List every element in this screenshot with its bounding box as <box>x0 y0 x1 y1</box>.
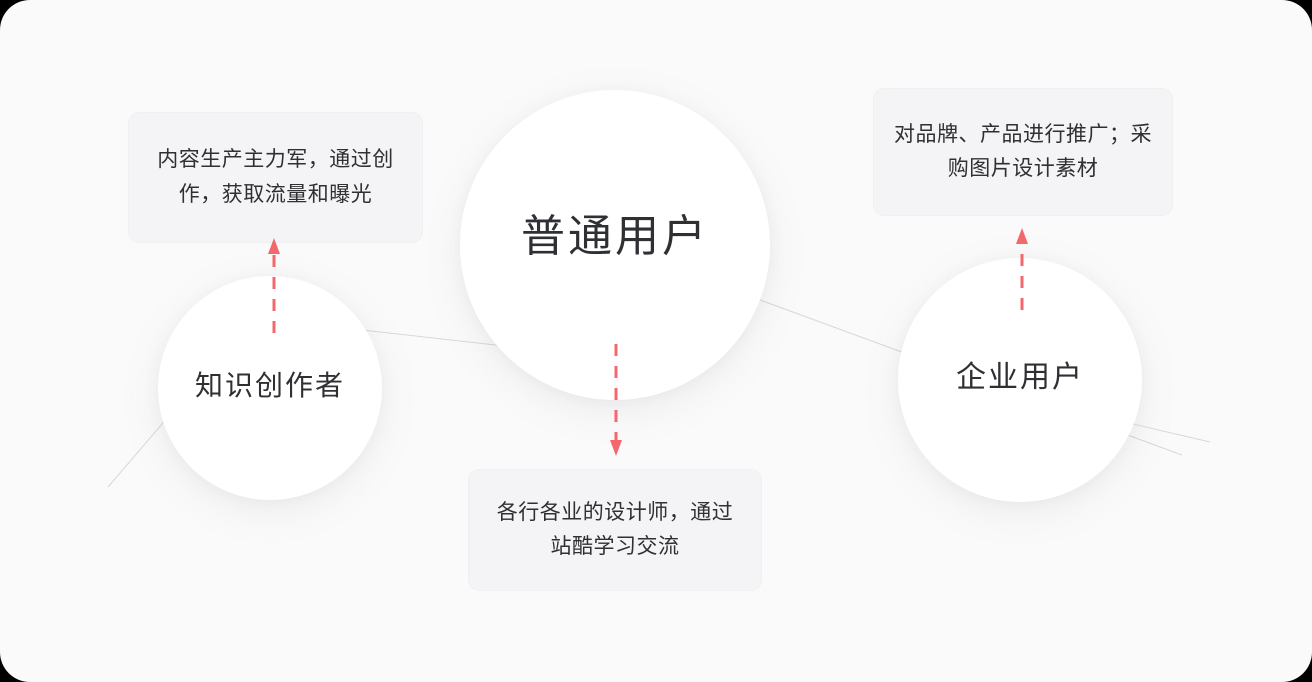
card-designer[interactable]: 各行各业的设计师，通过站酷学习交流 <box>468 469 762 591</box>
node-knowledge-creator[interactable]: 知识创作者 <box>158 276 382 500</box>
card-knowledge-creator-text: 内容生产主力军，通过创作，获取流量和曝光 <box>149 143 402 211</box>
node-main-user[interactable]: 普通用户 <box>460 90 770 400</box>
node-knowledge-creator-label: 知识创作者 <box>195 372 345 400</box>
node-main-user-label: 普通用户 <box>521 215 709 259</box>
card-enterprise-user[interactable]: 对品牌、产品进行推广；采购图片设计素材 <box>873 88 1173 216</box>
node-enterprise-user-label: 企业用户 <box>956 363 1084 393</box>
connector-enterprise-to-offscreen-right <box>1133 424 1210 442</box>
enterprise-arrow-head <box>1016 228 1028 244</box>
designer-arrow-head <box>610 440 622 456</box>
node-enterprise-user[interactable]: 企业用户 <box>898 258 1142 502</box>
card-enterprise-user-text: 对品牌、产品进行推广；采购图片设计素材 <box>894 118 1152 186</box>
diagram-canvas: 普通用户 知识创作者 企业用户 内容生产主力军，通过创作，获取流量和曝光 各行各… <box>0 0 1312 682</box>
card-designer-text: 各行各业的设计师，通过站酷学习交流 <box>489 496 741 564</box>
card-knowledge-creator[interactable]: 内容生产主力军，通过创作，获取流量和曝光 <box>128 112 423 243</box>
